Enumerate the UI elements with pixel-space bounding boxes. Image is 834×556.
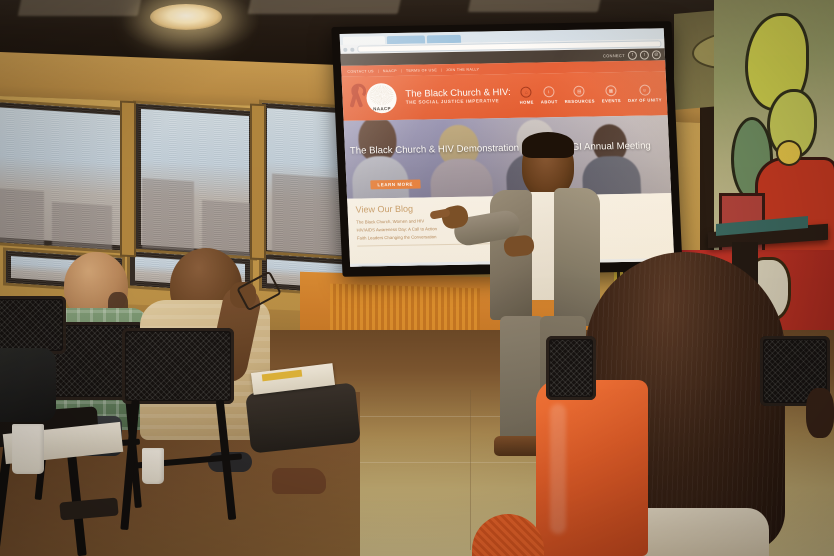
separator: | — [378, 69, 379, 73]
utility-link-contact[interactable]: CONTACT US — [347, 69, 374, 73]
room-photo-scene: CONNECT f t @ CONTACT US | NAACP | TERMS… — [0, 0, 834, 556]
people-icon: ☺ — [639, 85, 651, 96]
orange-jacket — [536, 380, 656, 556]
ceiling-panel — [468, 0, 602, 12]
hair — [522, 132, 574, 158]
utility-link-join[interactable]: JOIN THE RALLY — [446, 67, 480, 72]
bag — [0, 348, 56, 422]
calendar-icon: ▦ — [605, 85, 617, 96]
email-icon[interactable]: @ — [652, 50, 661, 59]
ceiling-panel — [248, 0, 403, 14]
learn-more-button[interactable]: LEARN MORE — [370, 180, 420, 190]
nav-item-day-of-unity[interactable]: ☺ DAY OF UNITY — [627, 84, 662, 103]
nav-item-events[interactable]: ▦ EVENTS — [601, 85, 621, 103]
nav-item-home[interactable]: ⌂ HOME — [519, 87, 534, 105]
nav-label: EVENTS — [602, 98, 621, 103]
site-header: NAACP The Black Church & HIV: THE SOCIAL… — [342, 71, 668, 121]
utility-link-naacp[interactable]: NAACP — [383, 68, 397, 72]
home-icon: ⌂ — [521, 87, 533, 98]
nav-label: DAY OF UNITY — [628, 97, 662, 103]
info-icon: i — [543, 86, 555, 97]
naacp-logo[interactable]: NAACP — [366, 83, 397, 113]
twitter-icon[interactable]: t — [640, 50, 649, 59]
separator: | — [401, 68, 402, 72]
window — [0, 102, 126, 251]
connect-label: CONNECT — [603, 52, 625, 57]
shoe — [272, 468, 326, 494]
back-icon[interactable] — [343, 47, 347, 51]
facebook-icon[interactable]: f — [628, 50, 637, 59]
logo-burst — [369, 85, 394, 105]
window — [136, 104, 254, 258]
naacp-logo-text: NAACP — [373, 106, 391, 111]
nav-label: RESOURCES — [565, 98, 595, 104]
nav-item-resources[interactable]: ▤ RESOURCES — [564, 85, 595, 104]
nav-item-about[interactable]: i ABOUT — [540, 86, 558, 104]
book-icon: ▤ — [574, 86, 586, 97]
awareness-ribbon-icon — [347, 84, 364, 114]
forward-icon[interactable] — [350, 47, 354, 51]
recessed-ceiling-light — [150, 4, 222, 30]
coffee-cup[interactable] — [142, 448, 164, 484]
main-navigation: ⌂ HOME i ABOUT ▤ RESOURCES ▦ EVENTS — [519, 84, 662, 104]
site-title-block: The Black Church & HIV: THE SOCIAL JUSTI… — [405, 88, 511, 106]
separator: | — [441, 68, 442, 72]
coffee-cup[interactable] — [12, 424, 44, 474]
background-person-hair — [806, 388, 834, 438]
utility-link-terms[interactable]: TERMS OF USE — [406, 68, 437, 73]
site-subtitle: THE SOCIAL JUSTICE IMPERATIVE — [406, 99, 511, 106]
nav-label: ABOUT — [541, 99, 558, 104]
nav-label: HOME — [520, 100, 534, 105]
